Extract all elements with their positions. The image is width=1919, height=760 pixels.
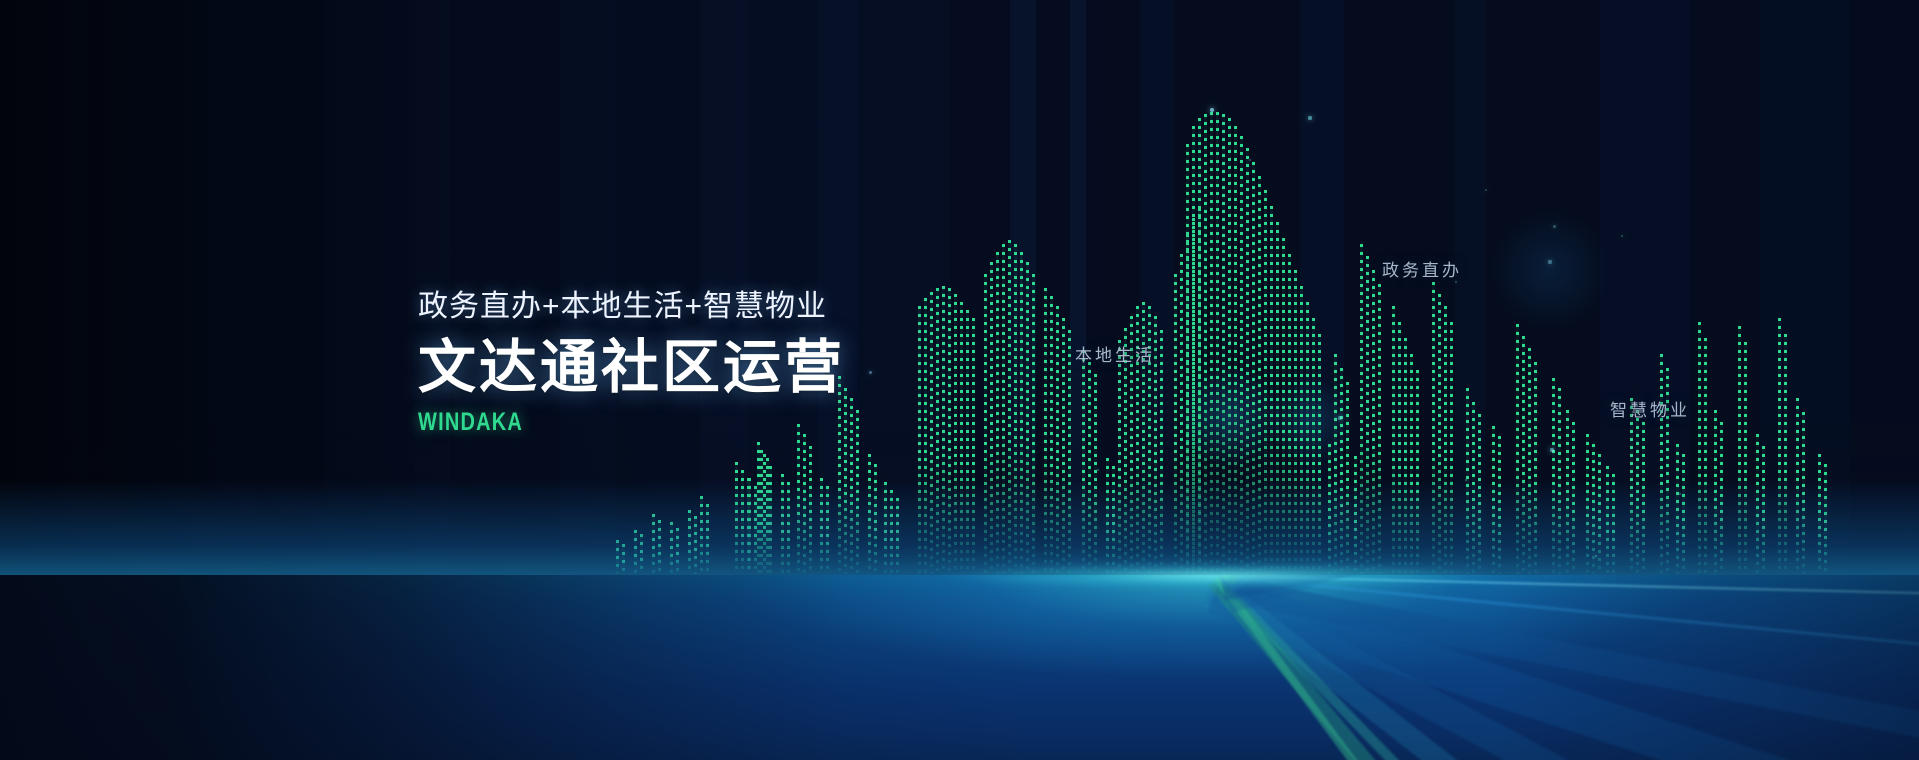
hero-title: 文达通社区运营 [418, 339, 845, 397]
hero-text-block: 政务直办+本地生活+智慧物业 文达通社区运营 WINDAKA [418, 292, 845, 435]
skyline-bar [1586, 434, 1589, 574]
skyline-bar [1802, 412, 1805, 574]
skyline-bar [1180, 254, 1183, 574]
skyline-bar [1160, 330, 1163, 574]
skyline-bar [1056, 306, 1059, 574]
skyline-bar [1082, 350, 1085, 574]
skyline-bar [1714, 410, 1717, 574]
skyline-bar [1192, 126, 1195, 574]
particle-dot [1550, 448, 1553, 451]
skyline-bar [1492, 426, 1495, 574]
skyline-bar [1572, 422, 1575, 574]
skyline-bar [1088, 362, 1091, 574]
skyline-bar [850, 398, 853, 574]
skyline-bar [1528, 348, 1531, 574]
skyline-bar [1378, 284, 1381, 574]
skyline-bar [936, 288, 939, 574]
skyline-bar [930, 292, 933, 574]
skyline-bar [1014, 244, 1017, 574]
skyline-bar [1360, 244, 1363, 574]
skyline-bar [1366, 256, 1369, 574]
horizon-glow [0, 554, 1919, 588]
skyline-bar [1636, 410, 1639, 574]
skyline-bar [1032, 274, 1035, 574]
particle-dot [1553, 225, 1556, 228]
skyline-bar [1516, 324, 1519, 574]
skyline-bar [1704, 338, 1707, 574]
skyline-bar [1234, 126, 1237, 574]
skyline-bar [1252, 162, 1255, 574]
skyline-bar [1094, 374, 1097, 574]
particle-dot [1210, 108, 1214, 112]
skyline-bar [1738, 326, 1741, 574]
skyline-bar [1204, 114, 1207, 574]
skyline-bar [948, 288, 951, 574]
skyline-bar [1410, 354, 1413, 574]
skyline-bar [1552, 378, 1555, 574]
skyline-bar [1318, 334, 1321, 574]
hero-banner: 本地生活政务直办智慧物业 政务直办+本地生活+智慧物业 文达通社区运营 WIND… [0, 0, 1919, 760]
hero-subtitle: 政务直办+本地生活+智慧物业 [418, 292, 845, 322]
skyline-bar [1002, 244, 1005, 574]
skyline-bar [1026, 262, 1029, 574]
skyline-bar [1558, 388, 1561, 574]
skyline-bar [1198, 118, 1201, 574]
skyline-bar [1720, 422, 1723, 574]
skyline-bar [1246, 148, 1249, 574]
skyline-bar [1288, 254, 1291, 574]
skyline-bar [1472, 402, 1475, 574]
skyline-bar [1334, 354, 1337, 574]
skyline-bar [1784, 334, 1787, 574]
skyline-bar [1438, 294, 1441, 574]
particle-dot [1308, 116, 1311, 119]
skyline-label-2: 政务直办 [1382, 256, 1462, 281]
skyline-bar [1796, 398, 1799, 574]
brand-wordmark: WINDAKA [418, 410, 760, 435]
skyline-label-1: 本地生活 [1075, 341, 1155, 366]
skyline-bar [1216, 112, 1219, 574]
skyline-bar [1270, 206, 1273, 574]
skyline-bar [1186, 144, 1189, 574]
skyline-bar [1778, 318, 1781, 574]
particle-dot [1338, 416, 1341, 419]
skyline-bar [1372, 270, 1375, 574]
skyline-bar [1404, 338, 1407, 574]
skyline-label-3: 智慧物业 [1610, 396, 1690, 421]
skyline-bar [1118, 340, 1121, 574]
skyline-bar [1276, 222, 1279, 574]
skyline-bar [1174, 274, 1177, 574]
skyline-bar [1660, 354, 1663, 574]
skyline-bar [1210, 112, 1213, 574]
skyline-bar [960, 302, 963, 574]
skyline-bar [1300, 286, 1303, 574]
skyline-bar [1050, 296, 1053, 574]
skyline-bar [942, 286, 945, 574]
skyline-bar [1478, 414, 1481, 574]
skyline-bar [990, 262, 993, 574]
skyline-bar [1068, 330, 1071, 574]
skyline-bar [1432, 282, 1435, 574]
skyline-bar [984, 274, 987, 574]
skyline-bar [1566, 410, 1569, 574]
skyline-bar [1044, 288, 1047, 574]
dot-matrix-skyline [0, 0, 1919, 587]
skyline-bar [1240, 136, 1243, 574]
skyline-bar [924, 298, 927, 574]
skyline-bar [1312, 318, 1315, 574]
skyline-bar [1258, 176, 1261, 574]
skyline-bar [1008, 240, 1011, 574]
particle-dot [869, 371, 872, 374]
skyline-bar [1744, 342, 1747, 574]
skyline-bar [803, 434, 806, 574]
skyline-bar [1522, 336, 1525, 574]
particle-dot [1548, 260, 1551, 263]
skyline-bar [954, 294, 957, 574]
skyline-bar [1630, 398, 1633, 574]
skyline-bar [1398, 322, 1401, 574]
ground-side-shading [0, 575, 1919, 760]
skyline-bar [1222, 114, 1225, 574]
skyline-bar [1020, 252, 1023, 574]
skyline-bar [1340, 368, 1343, 574]
skyline-bar [1444, 306, 1447, 574]
skyline-bar [797, 424, 800, 574]
skyline-bar [1450, 322, 1453, 574]
skyline-bar [1534, 362, 1537, 574]
skyline-bar [1416, 370, 1419, 574]
perspective-ground [0, 575, 1919, 760]
skyline-bar [1228, 118, 1231, 574]
skyline-bar [1282, 238, 1285, 574]
skyline-bar [1756, 434, 1759, 574]
skyline-bar [1346, 382, 1349, 574]
skyline-bar [972, 318, 975, 574]
skyline-bar [1466, 388, 1469, 574]
skyline-bar [1698, 322, 1701, 574]
skyline-bar [856, 410, 859, 574]
skyline-bar [1264, 190, 1267, 574]
skyline-bar [966, 310, 969, 574]
skyline-bar [1062, 318, 1065, 574]
skyline-bar [1642, 422, 1645, 574]
skyline-bar [996, 252, 999, 574]
skyline-bar [1306, 302, 1309, 574]
skyline-bar [1294, 270, 1297, 574]
skyline-bar [918, 306, 921, 574]
skyline-bar [1392, 306, 1395, 574]
